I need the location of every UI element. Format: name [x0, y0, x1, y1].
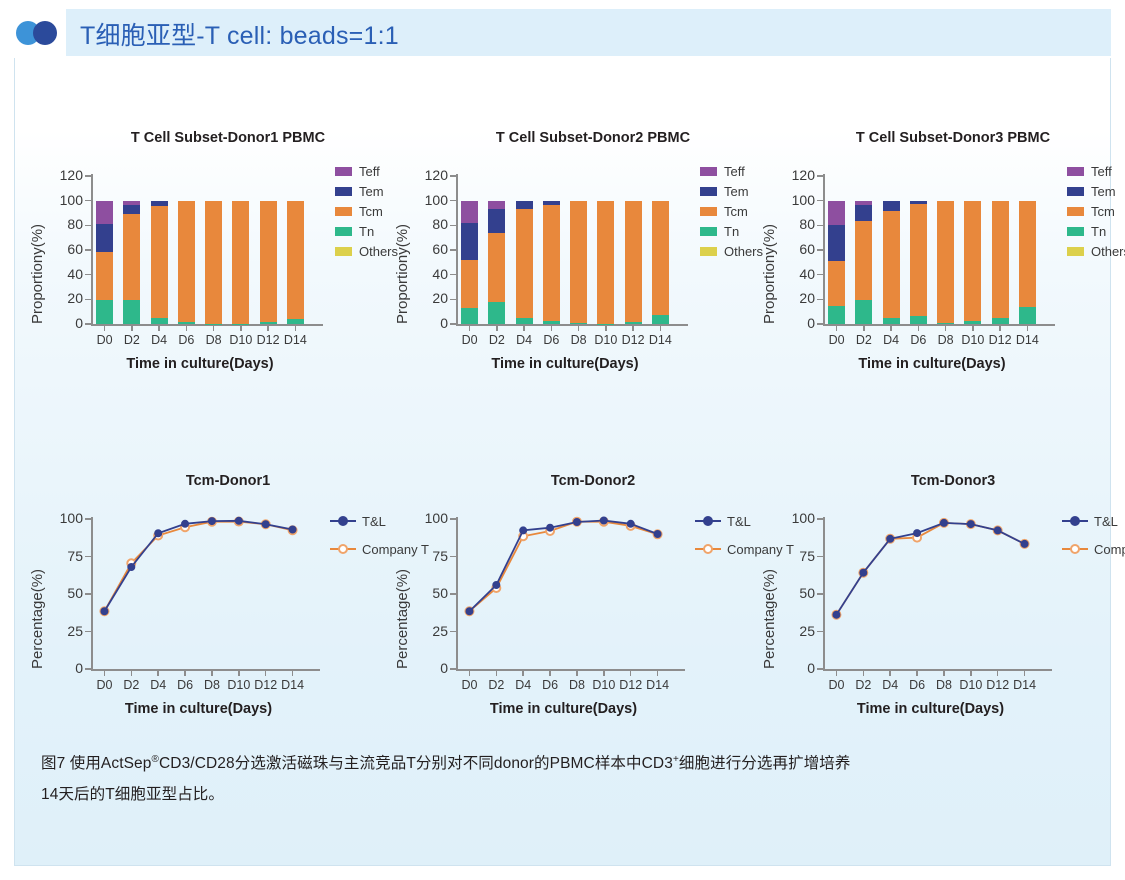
x-tick-mark [945, 325, 947, 331]
bar-stack [625, 176, 642, 324]
bar-stack [883, 176, 900, 324]
y-tick-mark [85, 249, 92, 251]
bar-segment-tcm [151, 206, 168, 318]
bar-segment-tn [516, 318, 533, 324]
legend-label: Tem [724, 184, 749, 199]
x-tick-mark [1027, 325, 1029, 331]
x-tick-mark [496, 325, 498, 331]
data-point-tl [967, 521, 974, 528]
x-axis-line [823, 324, 1055, 326]
legend-item-others[interactable]: Others [1067, 241, 1125, 261]
data-point-tl [574, 519, 581, 526]
bar-segment-tcm [178, 201, 195, 322]
logo-circle-dark [33, 21, 57, 45]
y-tick-label: 120 [396, 167, 448, 183]
legend-item-tn[interactable]: Tn [700, 221, 763, 241]
legend-item-others[interactable]: Others [700, 241, 763, 261]
legend-marker [338, 516, 348, 526]
bar-segment-tn [652, 315, 669, 324]
bar-segment-teff [488, 201, 505, 209]
plot-area: 0255075100Percentage(%)D0D2D4D6D8D10D12D… [388, 489, 748, 719]
legend-item-teff[interactable]: Teff [1067, 161, 1125, 181]
legend-marker [703, 516, 713, 526]
legend-label: Tcm [359, 204, 383, 219]
y-axis-title: Proportiony(%) [394, 224, 411, 324]
x-tick-label: D14 [638, 333, 682, 347]
bar-segment-tn [570, 323, 587, 324]
legend-label: Tn [724, 224, 739, 239]
bar-stack [855, 176, 872, 324]
bar-segment-tcm [652, 201, 669, 315]
bar-stack [516, 176, 533, 324]
x-axis-line [456, 324, 688, 326]
y-tick-mark [450, 200, 457, 202]
legend-label: Tcm [724, 204, 748, 219]
data-point-tl [520, 527, 527, 534]
plot-area: 020406080100120Proportiony(%)D0D2D4D6D8D… [23, 146, 383, 374]
x-tick-mark [578, 325, 580, 331]
data-point-tl [547, 524, 554, 531]
legend-swatch-teff [700, 167, 717, 176]
caption-line-2: 14天后的T细胞亚型占比。 [41, 786, 224, 803]
legend-line-sample [1062, 543, 1088, 555]
legend-line-sample [1062, 515, 1088, 527]
caption-text-c: 细胞进行分选再扩增培养 [679, 755, 851, 772]
x-axis-title: Time in culture(Days) [436, 356, 694, 372]
x-tick-mark [999, 325, 1001, 331]
chart-tcm-donor1: Tcm-Donor10255075100Percentage(%)D0D2D4D… [23, 473, 383, 719]
y-axis-title: Proportiony(%) [29, 224, 46, 324]
chart-legend: T&LCompany T [1062, 511, 1125, 567]
chart-legend: TeffTemTcmTnOthers [1067, 161, 1125, 261]
data-point-tl [235, 517, 242, 524]
bar-segment-tem [488, 209, 505, 233]
legend-label: Company T [1094, 542, 1125, 557]
legend-label: Tn [1091, 224, 1106, 239]
data-point-tl [860, 569, 867, 576]
bar-segment-teff [123, 201, 140, 205]
x-tick-mark [660, 325, 662, 331]
legend-label: T&L [1094, 514, 1118, 529]
bar-stack [828, 176, 845, 324]
chart-title: T Cell Subset-Donor3 PBMC [803, 130, 1103, 146]
y-tick-mark [450, 274, 457, 276]
x-tick-mark [890, 325, 892, 331]
y-tick-label: 120 [763, 167, 815, 183]
legend-label: T&L [727, 514, 751, 529]
y-tick-mark [85, 200, 92, 202]
legend-swatch-tem [335, 187, 352, 196]
caption-registered-mark: ® [152, 754, 159, 765]
bar-segment-tn [883, 318, 900, 324]
bar-segment-tcm [287, 201, 304, 319]
chart-title: T Cell Subset-Donor1 PBMC [78, 130, 378, 146]
bar-segment-tn [96, 300, 113, 324]
legend-marker [703, 544, 713, 554]
chart-title: Tcm-Donor3 [803, 473, 1103, 489]
legend-swatch-tem [700, 187, 717, 196]
chart-t-cell-subset-donor3: T Cell Subset-Donor3 PBMC020406080100120… [755, 130, 1115, 374]
line-series-tl [469, 521, 657, 612]
bar-segment-tn [937, 323, 954, 324]
bar-stack [597, 176, 614, 324]
x-tick-mark [605, 325, 607, 331]
bar-stack [992, 176, 1009, 324]
bar-stack [1019, 176, 1036, 324]
bar-segment-tcm [937, 201, 954, 323]
bar-stack [287, 176, 304, 324]
line-plot-svg [388, 489, 748, 719]
bar-segment-tn [123, 300, 140, 324]
legend-label: Tcm [1091, 204, 1115, 219]
chart-t-cell-subset-donor2: T Cell Subset-Donor2 PBMC020406080100120… [388, 130, 748, 374]
bar-segment-teff [461, 201, 478, 223]
bar-segment-tn [910, 316, 927, 324]
bar-segment-tcm [910, 204, 927, 316]
bar-segment-tem [516, 201, 533, 209]
legend-item-tem[interactable]: Tem [1067, 181, 1125, 201]
bar-segment-tcm [232, 201, 249, 324]
x-tick-mark [469, 325, 471, 331]
chart-title: Tcm-Donor2 [443, 473, 743, 489]
bar-stack [96, 176, 113, 324]
bar-stack [151, 176, 168, 324]
legend-label: Teff [1091, 164, 1112, 179]
bar-stack [205, 176, 222, 324]
y-tick-mark [85, 323, 92, 325]
y-tick-label: 120 [31, 167, 83, 183]
bar-segment-tcm [543, 205, 560, 321]
bar-segment-tcm [1019, 201, 1036, 307]
y-tick-label: 100 [763, 192, 815, 208]
bar-segment-teff [828, 201, 845, 226]
legend-item-tcm[interactable]: Tcm [700, 201, 763, 221]
plot-area: 0255075100Percentage(%)D0D2D4D6D8D10D12D… [755, 489, 1115, 719]
caption-text-a: 图7 使用ActSep [41, 755, 152, 772]
y-tick-mark [450, 249, 457, 251]
y-axis-title: Proportiony(%) [761, 224, 778, 324]
y-tick-mark [85, 225, 92, 227]
legend-item-companyt[interactable]: Company T [1062, 539, 1125, 559]
x-tick-mark [213, 325, 215, 331]
x-tick-mark [836, 325, 838, 331]
data-point-tl [466, 608, 473, 615]
data-point-tl [182, 520, 189, 527]
bar-segment-tcm [964, 201, 981, 322]
bar-segment-tcm [597, 201, 614, 324]
caption-line-1: 图7 使用ActSep®CD3/CD28分选激活磁珠与主流竞品T分别对不同don… [41, 755, 851, 772]
data-point-tl [627, 520, 634, 527]
y-tick-mark [817, 299, 824, 301]
y-tick-mark [817, 274, 824, 276]
legend-marker [1070, 516, 1080, 526]
bar-segment-tcm [992, 201, 1009, 318]
x-tick-label: D14 [273, 333, 317, 347]
x-axis-title: Time in culture(Days) [803, 356, 1061, 372]
x-tick-mark [523, 325, 525, 331]
legend-label: Tem [359, 184, 384, 199]
bar-segment-tn [992, 318, 1009, 324]
bar-segment-tem [543, 201, 560, 205]
x-tick-mark [158, 325, 160, 331]
bar-stack [123, 176, 140, 324]
chart-title: Tcm-Donor1 [78, 473, 378, 489]
data-point-tl [101, 608, 108, 615]
x-tick-mark [186, 325, 188, 331]
bar-segment-tem [96, 224, 113, 252]
legend-item-tl[interactable]: T&L [1062, 511, 1125, 531]
x-tick-mark [131, 325, 133, 331]
legend-line-sample [330, 515, 356, 527]
plot-area: 020406080100120Proportiony(%)D0D2D4D6D8D… [388, 146, 748, 374]
chart-legend: TeffTemTcmTnOthers [700, 161, 763, 261]
x-axis-title: Time in culture(Days) [71, 356, 329, 372]
bar-segment-tcm [488, 233, 505, 302]
bar-segment-tn [151, 318, 168, 324]
x-tick-mark [104, 325, 106, 331]
data-point-tl [654, 531, 661, 538]
y-tick-mark [85, 274, 92, 276]
legend-label: Others [1091, 244, 1125, 259]
bar-stack [570, 176, 587, 324]
legend-label: Teff [359, 164, 380, 179]
x-tick-label: D14 [1005, 333, 1049, 347]
legend-item-tn[interactable]: Tn [1067, 221, 1125, 241]
data-point-tl [493, 582, 500, 589]
caption-text-b: CD3/CD28分选激活磁珠与主流竞品T分别对不同donor的PBMC样本中CD… [159, 755, 673, 772]
figure-caption: 图7 使用ActSep®CD3/CD28分选激活磁珠与主流竞品T分别对不同don… [41, 748, 1087, 810]
bar-stack [652, 176, 669, 324]
bar-segment-teff [96, 201, 113, 225]
bar-stack [232, 176, 249, 324]
data-point-tl [1021, 541, 1028, 548]
x-tick-mark [632, 325, 634, 331]
data-point-tl [887, 535, 894, 542]
x-tick-mark [918, 325, 920, 331]
bar-segment-tn [543, 321, 560, 324]
chart-title: T Cell Subset-Donor2 PBMC [443, 130, 743, 146]
bar-segment-tem [855, 205, 872, 221]
y-tick-mark [817, 323, 824, 325]
legend-item-tcm[interactable]: Tcm [1067, 201, 1125, 221]
bar-stack [910, 176, 927, 324]
data-point-tl [155, 530, 162, 537]
legend-swatch-others [700, 247, 717, 256]
legend-label: Tem [1091, 184, 1116, 199]
x-tick-mark [972, 325, 974, 331]
legend-line-sample [695, 515, 721, 527]
data-point-tl [994, 527, 1001, 534]
page-header: T细胞亚型-T cell: beads=1:1 [0, 0, 1125, 58]
bar-stack [937, 176, 954, 324]
bar-segment-tcm [461, 260, 478, 308]
bar-segment-tcm [625, 201, 642, 322]
legend-line-sample [330, 543, 356, 555]
bar-segment-teff [855, 201, 872, 205]
data-point-tl [833, 611, 840, 618]
bar-segment-tn [260, 322, 277, 324]
bar-segment-tcm [516, 209, 533, 319]
y-tick-mark [450, 323, 457, 325]
chart-t-cell-subset-donor1: T Cell Subset-Donor1 PBMC020406080100120… [23, 130, 383, 374]
data-point-tl [600, 517, 607, 524]
bar-segment-tn [488, 302, 505, 324]
legend-item-teff[interactable]: Teff [700, 161, 763, 181]
legend-swatch-tn [700, 227, 717, 236]
bar-segment-tcm [883, 211, 900, 319]
legend-swatch-tcm [1067, 207, 1084, 216]
y-tick-mark [817, 249, 824, 251]
page-title: T细胞亚型-T cell: beads=1:1 [80, 16, 399, 52]
plot-area: 0255075100Percentage(%)D0D2D4D6D8D10D12D… [23, 489, 383, 719]
y-tick-mark [450, 175, 457, 177]
x-tick-mark [267, 325, 269, 331]
two-circles-icon [16, 21, 62, 45]
data-point-tl [941, 520, 948, 527]
legend-line-sample [695, 543, 721, 555]
bar-segment-tn [855, 300, 872, 324]
chart-tcm-donor3: Tcm-Donor30255075100Percentage(%)D0D2D4D… [755, 473, 1115, 719]
data-point-tl [128, 564, 135, 571]
x-tick-mark [240, 325, 242, 331]
legend-label: Tn [359, 224, 374, 239]
legend-item-tem[interactable]: Tem [700, 181, 763, 201]
x-tick-mark [551, 325, 553, 331]
bar-segment-tcm [828, 261, 845, 305]
bar-segment-tcm [855, 221, 872, 300]
bar-segment-tem [123, 205, 140, 214]
plot-area: 020406080100120Proportiony(%)D0D2D4D6D8D… [755, 146, 1115, 374]
legend-swatch-teff [1067, 167, 1084, 176]
y-tick-mark [817, 225, 824, 227]
bar-segment-tem [151, 201, 168, 207]
y-tick-mark [450, 299, 457, 301]
legend-swatch-teff [335, 167, 352, 176]
y-tick-mark [817, 175, 824, 177]
y-tick-mark [85, 299, 92, 301]
x-tick-mark [295, 325, 297, 331]
legend-swatch-tn [1067, 227, 1084, 236]
bar-segment-tn [964, 321, 981, 324]
legend-label: Teff [724, 164, 745, 179]
data-point-tl [209, 518, 216, 525]
bar-stack [461, 176, 478, 324]
line-plot-svg [23, 489, 383, 719]
y-tick-mark [817, 200, 824, 202]
line-series-companyt [469, 522, 657, 612]
legend-swatch-others [1067, 247, 1084, 256]
bar-segment-tem [828, 225, 845, 261]
figure-panel: T Cell Subset-Donor1 PBMC020406080100120… [14, 58, 1111, 866]
bar-segment-tcm [123, 214, 140, 300]
legend-label: T&L [362, 514, 386, 529]
bar-segment-tn [287, 319, 304, 324]
bar-stack [488, 176, 505, 324]
y-tick-label: 100 [31, 192, 83, 208]
y-tick-label: 100 [396, 192, 448, 208]
x-tick-mark [863, 325, 865, 331]
bar-segment-tn [828, 306, 845, 324]
bar-segment-tn [625, 322, 642, 324]
y-tick-mark [85, 175, 92, 177]
legend-marker [1070, 544, 1080, 554]
bar-segment-tem [910, 201, 927, 205]
legend-swatch-tn [335, 227, 352, 236]
bar-segment-tcm [570, 201, 587, 323]
line-plot-svg [755, 489, 1115, 719]
data-point-tl [289, 526, 296, 533]
x-axis-line [91, 324, 323, 326]
legend-swatch-tem [1067, 187, 1084, 196]
bar-segment-tn [461, 308, 478, 324]
chart-tcm-donor2: Tcm-Donor20255075100Percentage(%)D0D2D4D… [388, 473, 748, 719]
bar-segment-tn [1019, 307, 1036, 325]
y-tick-mark [450, 225, 457, 227]
data-point-tl [914, 530, 921, 537]
legend-swatch-tcm [335, 207, 352, 216]
bar-segment-tcm [205, 201, 222, 324]
bar-stack [543, 176, 560, 324]
legend-swatch-others [335, 247, 352, 256]
bar-stack [964, 176, 981, 324]
legend-marker [338, 544, 348, 554]
legend-swatch-tcm [700, 207, 717, 216]
bar-stack [260, 176, 277, 324]
bar-segment-tem [461, 223, 478, 260]
bar-segment-tem [883, 201, 900, 211]
data-point-tl [262, 521, 269, 528]
bar-segment-tcm [260, 201, 277, 322]
bar-segment-tcm [96, 252, 113, 300]
bar-stack [178, 176, 195, 324]
bar-segment-tn [178, 322, 195, 324]
